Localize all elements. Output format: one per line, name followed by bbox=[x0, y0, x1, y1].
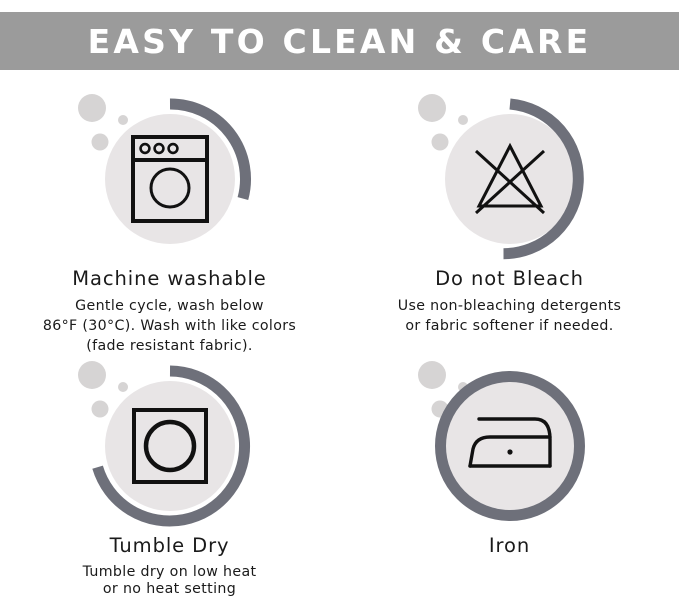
icon-background-circle bbox=[445, 114, 575, 244]
card-body: Gentle cycle, wash below 86°F (30°C). Wa… bbox=[43, 296, 296, 356]
care-instruction-grid: Machine washable Gentle cycle, wash belo… bbox=[0, 70, 679, 593]
icon-background-circle bbox=[105, 381, 235, 511]
iron-artwork bbox=[410, 353, 610, 538]
care-card-machine-washable: Machine washable Gentle cycle, wash belo… bbox=[0, 86, 339, 356]
do-not-bleach-artwork bbox=[410, 86, 610, 271]
icon-background-circle bbox=[105, 114, 235, 244]
header-banner: EASY TO CLEAN & CARE bbox=[0, 12, 679, 70]
card-body: Use non-bleaching detergents or fabric s… bbox=[398, 296, 622, 336]
page-title: EASY TO CLEAN & CARE bbox=[88, 25, 592, 58]
care-card-do-not-bleach: Do not Bleach Use non-bleaching detergen… bbox=[340, 86, 679, 336]
care-card-iron: Iron bbox=[340, 353, 679, 557]
tumble-dry-artwork bbox=[70, 353, 270, 538]
machine-washable-artwork bbox=[70, 86, 270, 271]
card-body: Tumble dry on low heat or no heat settin… bbox=[83, 564, 257, 599]
care-card-tumble-dry: Tumble Dry Tumble dry on low heat or no … bbox=[0, 353, 339, 599]
